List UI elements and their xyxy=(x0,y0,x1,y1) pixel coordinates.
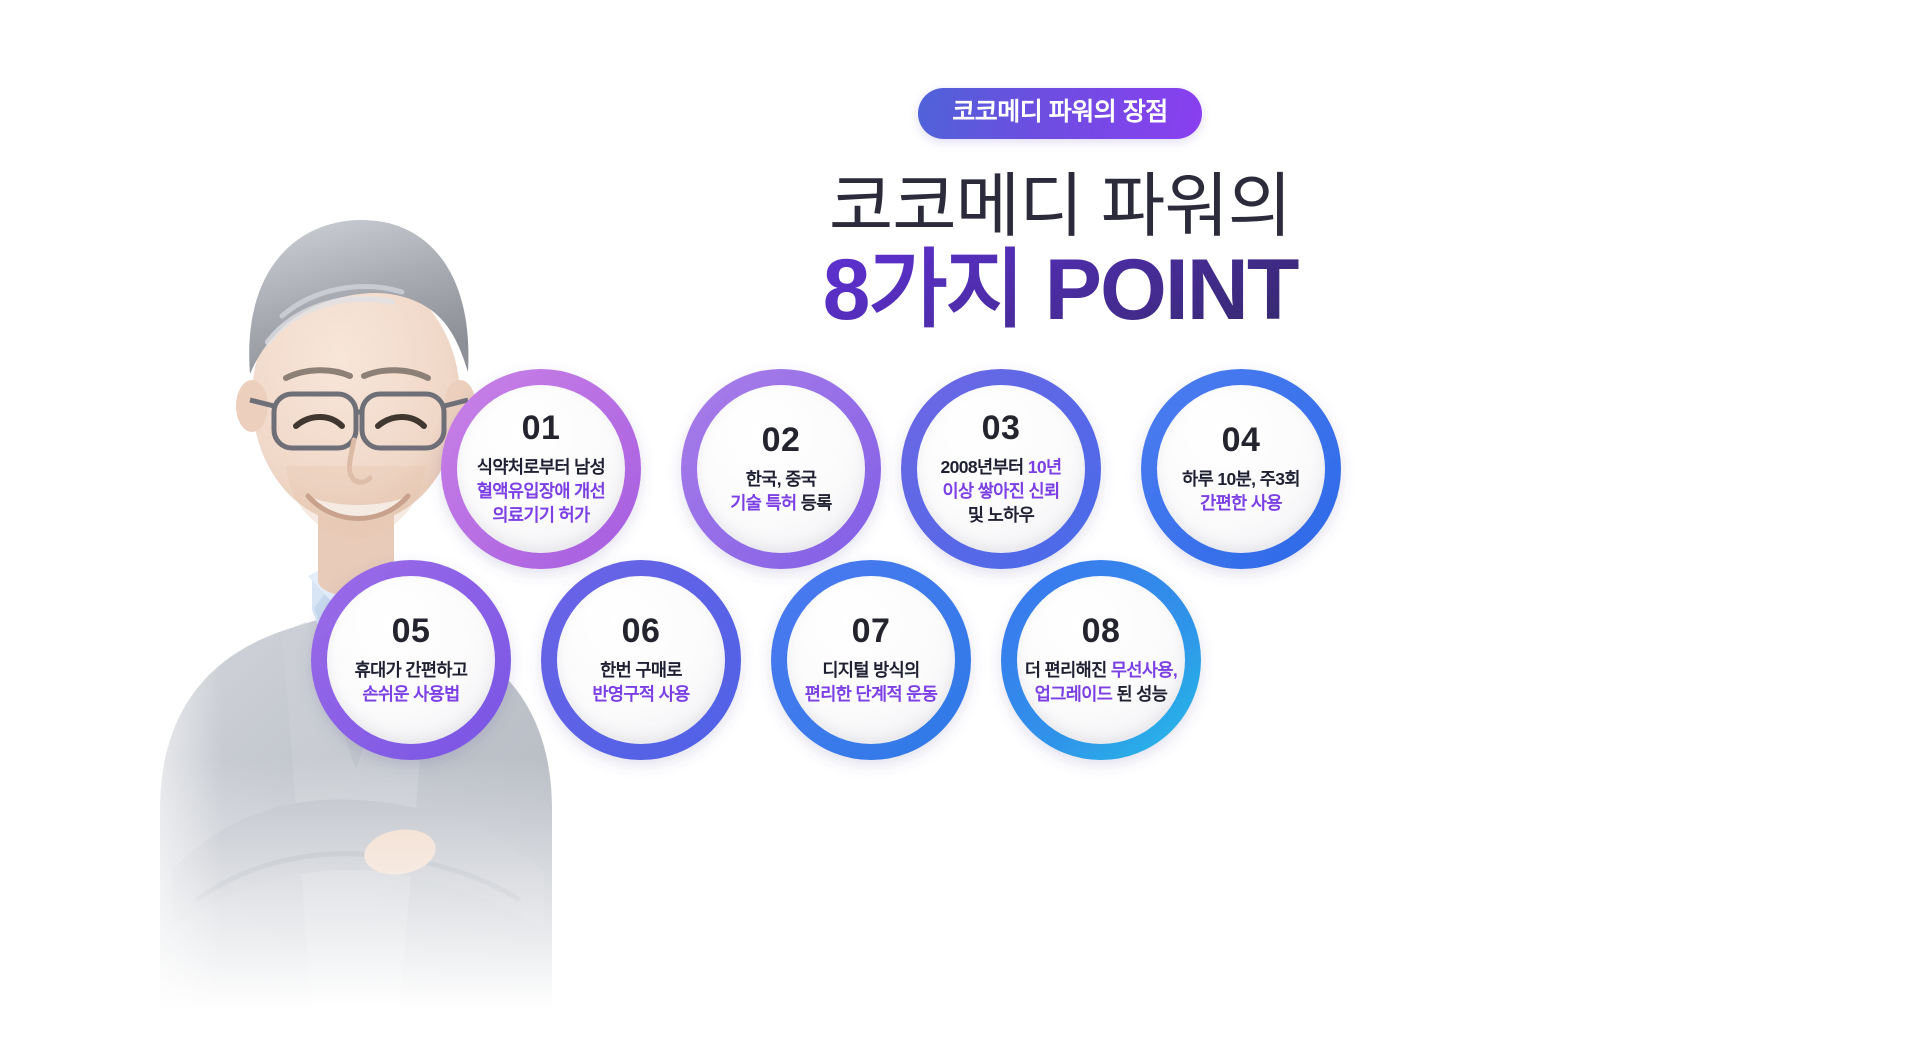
point-content: 01 식약처로부터 남성 혈액유입장애 개선 의료기기 허가 xyxy=(441,385,641,553)
point-number: 02 xyxy=(762,423,801,457)
point-number: 01 xyxy=(522,411,561,445)
page-title-bold: 8가지 POINT xyxy=(560,245,1560,336)
point-node-04[interactable]: 04 하루 10분, 주3회 간편한 사용 xyxy=(1131,359,1351,579)
point-line: 간편한 사용 xyxy=(1182,491,1300,515)
point-content: 07 디지털 방식의 편리한 단계적 운동 xyxy=(771,576,971,744)
point-line: 혈액유입장애 개선 xyxy=(477,479,605,503)
point-number: 06 xyxy=(622,614,661,648)
point-lines: 하루 10분, 주3회 간편한 사용 xyxy=(1182,467,1300,515)
point-lines: 식약처로부터 남성 혈액유입장애 개선 의료기기 허가 xyxy=(477,455,605,527)
page-title-thin: 코코메디 파워의 xyxy=(560,169,1560,243)
point-line: 디지털 방식의 xyxy=(805,658,938,682)
point-lines: 휴대가 간편하고 손쉬운 사용법 xyxy=(355,658,468,706)
point-node-01[interactable]: 01 식약처로부터 남성 혈액유입장애 개선 의료기기 허가 xyxy=(431,359,651,579)
point-content: 08 더 편리해진 무선사용, 업그레이드 된 성능 xyxy=(1001,576,1201,744)
point-node-08[interactable]: 08 더 편리해진 무선사용, 업그레이드 된 성능 xyxy=(991,550,1211,770)
point-number: 05 xyxy=(392,614,431,648)
point-line: 한국, 중국 xyxy=(730,467,832,491)
point-line: 2008년부터 10년 xyxy=(940,455,1061,479)
point-line-segment: 기술 특허 xyxy=(730,493,796,513)
point-node-03[interactable]: 03 2008년부터 10년 이상 쌓아진 신뢰 및 노하우 xyxy=(891,359,1111,579)
point-content: 03 2008년부터 10년 이상 쌓아진 신뢰 및 노하우 xyxy=(901,385,1101,553)
point-line: 의료기기 허가 xyxy=(477,503,605,527)
point-lines: 한번 구매로 반영구적 사용 xyxy=(592,658,689,706)
point-number: 08 xyxy=(1082,614,1121,648)
point-line-segment: 10년 xyxy=(1028,457,1062,477)
eyebrow-badge: 코코메디 파워의 장점 xyxy=(918,88,1201,139)
point-lines: 2008년부터 10년 이상 쌓아진 신뢰 및 노하우 xyxy=(940,455,1061,527)
point-line-segment: 더 편리해진 xyxy=(1025,660,1111,680)
point-content: 05 휴대가 간편하고 손쉬운 사용법 xyxy=(311,576,511,744)
point-lines: 디지털 방식의 편리한 단계적 운동 xyxy=(805,658,938,706)
point-line: 업그레이드 된 성능 xyxy=(1025,682,1177,706)
point-line: 손쉬운 사용법 xyxy=(355,682,468,706)
point-line: 하루 10분, 주3회 xyxy=(1182,467,1300,491)
point-line-segment: 등록 xyxy=(797,493,832,513)
point-line: 휴대가 간편하고 xyxy=(355,658,468,682)
point-line: 및 노하우 xyxy=(940,503,1061,527)
point-number: 04 xyxy=(1222,423,1261,457)
point-line-segment: 무선사용, xyxy=(1111,660,1177,680)
point-lines: 더 편리해진 무선사용, 업그레이드 된 성능 xyxy=(1025,658,1177,706)
point-content: 06 한번 구매로 반영구적 사용 xyxy=(541,576,741,744)
point-lines: 한국, 중국 기술 특허 등록 xyxy=(730,467,832,515)
point-node-06[interactable]: 06 한번 구매로 반영구적 사용 xyxy=(531,550,751,770)
point-node-05[interactable]: 05 휴대가 간편하고 손쉬운 사용법 xyxy=(301,550,521,770)
point-content: 04 하루 10분, 주3회 간편한 사용 xyxy=(1141,385,1341,553)
point-line: 식약처로부터 남성 xyxy=(477,455,605,479)
point-line-segment: 2008년부터 xyxy=(940,457,1027,477)
point-number: 03 xyxy=(982,411,1021,445)
infographic-canvas: 코코메디 파워의 장점 코코메디 파워의 8가지 POINT xyxy=(0,0,1920,1063)
headline-block: 코코메디 파워의 장점 코코메디 파워의 8가지 POINT xyxy=(560,88,1560,336)
point-line-segment: 된 성능 xyxy=(1112,684,1167,704)
point-line: 편리한 단계적 운동 xyxy=(805,682,938,706)
point-line: 한번 구매로 xyxy=(592,658,689,682)
point-line-segment: 업그레이드 xyxy=(1035,684,1113,704)
point-line: 더 편리해진 무선사용, xyxy=(1025,658,1177,682)
point-content: 02 한국, 중국 기술 특허 등록 xyxy=(681,385,881,553)
point-node-02[interactable]: 02 한국, 중국 기술 특허 등록 xyxy=(671,359,891,579)
point-line: 반영구적 사용 xyxy=(592,682,689,706)
point-line: 기술 특허 등록 xyxy=(730,491,832,515)
point-number: 07 xyxy=(852,614,891,648)
point-node-07[interactable]: 07 디지털 방식의 편리한 단계적 운동 xyxy=(761,550,981,770)
point-line: 이상 쌓아진 신뢰 xyxy=(940,479,1061,503)
